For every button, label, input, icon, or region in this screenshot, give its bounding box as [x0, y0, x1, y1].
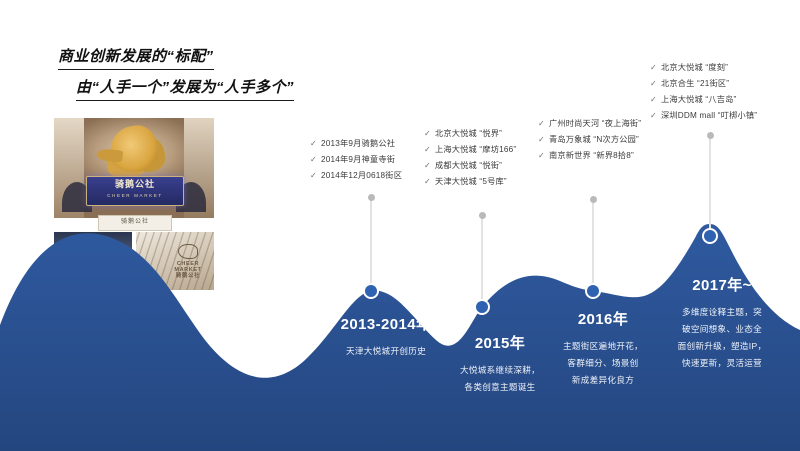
- list-item: ✓ 天津大悦城 “5号库”: [424, 176, 516, 187]
- list-item: ✓ 上海大悦城 “摩坊166”: [424, 144, 516, 155]
- check-icon: ✓: [424, 128, 435, 139]
- check-icon: ✓: [650, 62, 661, 73]
- timeline-node-1[interactable]: [363, 283, 379, 299]
- list-item: ✓ 2014年12月0618街区: [310, 170, 402, 181]
- check-icon: ✓: [538, 118, 549, 129]
- check-icon: ✓: [650, 94, 661, 105]
- check-icon: ✓: [424, 144, 435, 155]
- checklist-2016: ✓ 广州时尚天河 “夜上海街” ✓ 青岛万象城 “N次方公园” ✓ 南京新世界 …: [538, 118, 641, 166]
- connector-top-dot-4: [707, 132, 714, 139]
- connector-line-4: [709, 136, 711, 236]
- list-item: ✓ 广州时尚天河 “夜上海街”: [538, 118, 641, 129]
- connector-top-dot-3: [590, 196, 597, 203]
- connector-line-3: [592, 200, 594, 291]
- check-icon: ✓: [650, 110, 661, 121]
- list-item: ✓ 2014年9月神童寺街: [310, 154, 402, 165]
- check-icon: ✓: [538, 150, 549, 161]
- list-item: ✓ 上海大悦城 “八吉岛”: [650, 94, 757, 105]
- list-item: ✓ 北京大悦城 “悦界”: [424, 128, 516, 139]
- timeline-node-2[interactable]: [474, 299, 490, 315]
- stage-2017: 2017年~ 多维度诠释主题，突 破空间想象、业态全 面创新升级，塑造IP， 快…: [654, 274, 790, 372]
- list-item: ✓ 成都大悦城 “悦街”: [424, 160, 516, 171]
- stage-year-label: 2017年~: [654, 274, 790, 295]
- check-icon: ✓: [424, 176, 435, 187]
- timeline-node-3[interactable]: [585, 283, 601, 299]
- slide-canvas: 商业创新发展的“标配” 由“人手一个”发展为“人手多个” 骑鹅公社 CHEER …: [0, 0, 800, 451]
- stage-description: 主题街区遍地开花， 客群细分、场景创 新成差异化良方: [538, 338, 668, 389]
- check-icon: ✓: [310, 154, 321, 165]
- list-item: ✓ 北京合生 “21街区”: [650, 78, 757, 89]
- list-item: ✓ 深圳DDM mall “叮梆小镇”: [650, 110, 757, 121]
- list-item: ✓ 南京新世界 “新界8拾8”: [538, 150, 641, 161]
- check-icon: ✓: [538, 134, 549, 145]
- check-icon: ✓: [310, 170, 321, 181]
- check-icon: ✓: [310, 138, 321, 149]
- list-item: ✓ 北京大悦城 “度刻”: [650, 62, 757, 73]
- connector-line-2: [481, 216, 483, 307]
- stage-2016: 2016年 主题街区遍地开花， 客群细分、场景创 新成差异化良方: [538, 308, 668, 389]
- connector-top-dot-2: [479, 212, 486, 219]
- list-item: ✓ 青岛万象城 “N次方公园”: [538, 134, 641, 145]
- checklist-2013-2014: ✓ 2013年9月骑鹅公社 ✓ 2014年9月神童寺街 ✓ 2014年12月06…: [310, 138, 402, 186]
- stage-year-label: 2016年: [538, 308, 668, 329]
- stage-year-label: 2013-2014年: [318, 313, 454, 334]
- list-item: ✓ 2013年9月骑鹅公社: [310, 138, 402, 149]
- connector-line-1: [370, 198, 372, 291]
- checklist-2017: ✓ 北京大悦城 “度刻” ✓ 北京合生 “21街区” ✓ 上海大悦城 “八吉岛”…: [650, 62, 757, 126]
- stage-description: 多维度诠释主题，突 破空间想象、业态全 面创新升级，塑造IP， 快速更新，灵活运…: [654, 304, 790, 372]
- checklist-2015: ✓ 北京大悦城 “悦界” ✓ 上海大悦城 “摩坊166” ✓ 成都大悦城 “悦街…: [424, 128, 516, 192]
- check-icon: ✓: [424, 160, 435, 171]
- check-icon: ✓: [650, 78, 661, 89]
- connector-top-dot-1: [368, 194, 375, 201]
- timeline-node-4[interactable]: [702, 228, 718, 244]
